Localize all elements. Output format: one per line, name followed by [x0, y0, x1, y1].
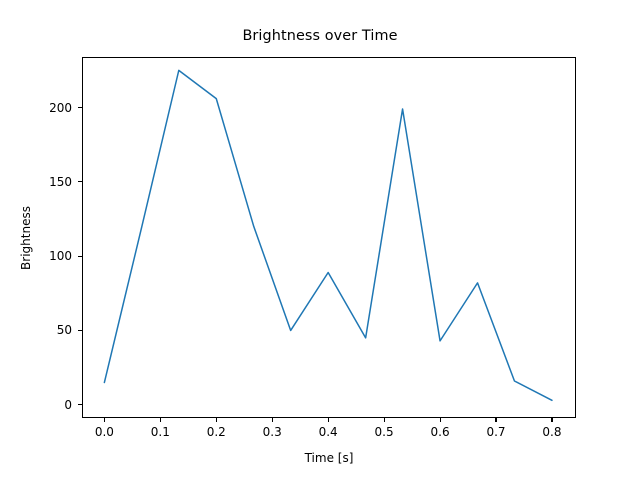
x-tick-mark — [216, 418, 217, 422]
x-axis-label: Time [s] — [82, 451, 576, 465]
x-tick-label: 0.7 — [466, 425, 526, 439]
matplotlib-figure: Brightness over Time 050100150200 0.00.1… — [0, 0, 640, 480]
x-tick-label: 0.3 — [242, 425, 302, 439]
x-tick-label: 0.8 — [522, 425, 582, 439]
x-tick-mark — [551, 418, 552, 422]
page-title: Brightness over Time — [0, 28, 640, 44]
brightness-line-series — [104, 70, 552, 400]
x-tick-mark — [160, 418, 161, 422]
x-tick-label: 0.6 — [410, 425, 470, 439]
x-tick-label: 0.1 — [130, 425, 190, 439]
x-tick-mark — [104, 418, 105, 422]
x-tick-label: 0.0 — [74, 425, 134, 439]
line-plot-area — [82, 57, 576, 418]
x-tick-label: 0.4 — [298, 425, 358, 439]
x-tick-mark — [495, 418, 496, 422]
y-axis-label-container: Brightness — [16, 57, 36, 418]
x-tick-mark — [328, 418, 329, 422]
x-tick-mark — [272, 418, 273, 422]
x-tick-label: 0.5 — [354, 425, 414, 439]
x-tick-mark — [440, 418, 441, 422]
y-axis-label: Brightness — [19, 206, 33, 270]
x-tick-label: 0.2 — [186, 425, 246, 439]
x-tick-mark — [384, 418, 385, 422]
